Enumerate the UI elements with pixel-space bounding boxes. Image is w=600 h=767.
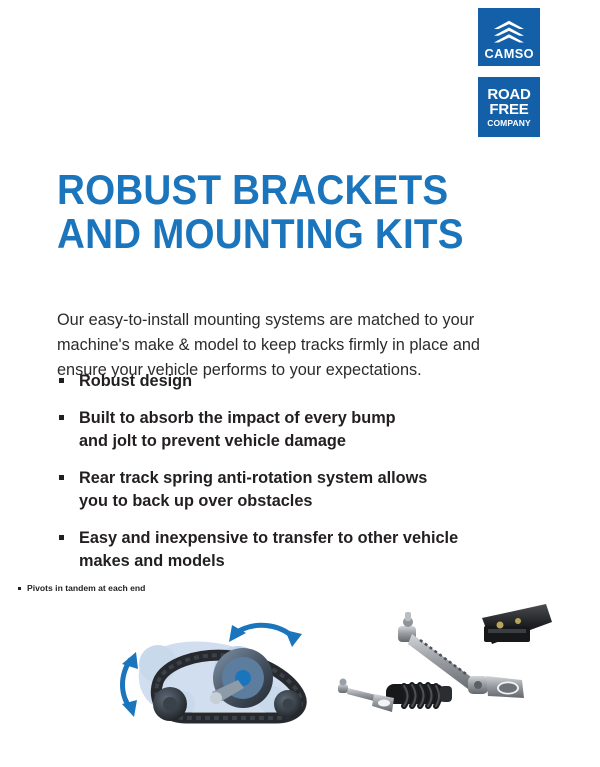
mounting-hardware-photo xyxy=(332,600,552,732)
camso-logo: CAMSO xyxy=(478,8,540,66)
roadfree-line-free: FREE xyxy=(482,102,536,117)
bullet-square-icon xyxy=(59,415,64,420)
page-title-line-2: AND MOUNTING KITS xyxy=(57,212,443,256)
bullet-square-icon xyxy=(59,535,64,540)
spring-damper-assembly xyxy=(386,684,452,706)
illustration-row xyxy=(0,600,600,740)
road-free-company-logo: ROAD FREE COMPANY xyxy=(478,77,540,137)
list-item-line: makes and models xyxy=(79,550,527,573)
list-item-line: Rear track spring anti-rotation system a… xyxy=(79,467,527,490)
pivot-arrow-left xyxy=(122,652,138,717)
track-assembly-graphic xyxy=(112,608,327,734)
bullet-square-icon xyxy=(59,475,64,480)
footnote-text: Pivots in tandem at each end xyxy=(27,583,145,593)
list-item-line: Robust design xyxy=(79,370,527,393)
list-item-line: you to back up over obstacles xyxy=(79,490,527,513)
list-item: Easy and inexpensive to transfer to othe… xyxy=(57,527,527,573)
roadfree-line-road: ROAD xyxy=(482,87,536,102)
list-item: Built to absorb the impact of every bump… xyxy=(57,407,527,453)
list-item: Robust design xyxy=(57,370,527,393)
bullet-square-icon xyxy=(18,587,21,590)
rubber-track-assembly-photo xyxy=(112,608,327,734)
tie-rod-upper xyxy=(398,612,488,694)
page-title: ROBUST BRACKETS AND MOUNTING KITS xyxy=(57,168,443,256)
page-title-line-1: ROBUST BRACKETS xyxy=(57,168,443,212)
bullet-square-icon xyxy=(59,378,64,383)
list-item-line: Built to absorb the impact of every bump xyxy=(79,407,527,430)
black-mounting-bracket xyxy=(482,604,552,644)
clevis-tab-end xyxy=(486,676,524,698)
pivot-arrow-right xyxy=(229,625,302,647)
camso-chevron-icon xyxy=(491,19,527,45)
hardware-graphic xyxy=(332,600,552,732)
list-item-text: Easy and inexpensive to transfer to othe… xyxy=(79,527,527,573)
roadfree-line-company: COMPANY xyxy=(482,119,536,128)
feature-list: Robust design Built to absorb the impact… xyxy=(57,370,527,573)
camso-wordmark: CAMSO xyxy=(484,48,534,61)
footnote: Pivots in tandem at each end xyxy=(18,583,145,594)
brand-logo-block: CAMSO ROAD FREE COMPANY xyxy=(478,8,540,137)
tie-rod-lower xyxy=(338,679,394,713)
list-item-text: Robust design xyxy=(79,370,527,393)
list-item-text: Rear track spring anti-rotation system a… xyxy=(79,467,527,513)
list-item-line: Easy and inexpensive to transfer to othe… xyxy=(79,527,527,550)
list-item: Rear track spring anti-rotation system a… xyxy=(57,467,527,513)
list-item-line: and jolt to prevent vehicle damage xyxy=(79,430,527,453)
list-item-text: Built to absorb the impact of every bump… xyxy=(79,407,527,453)
